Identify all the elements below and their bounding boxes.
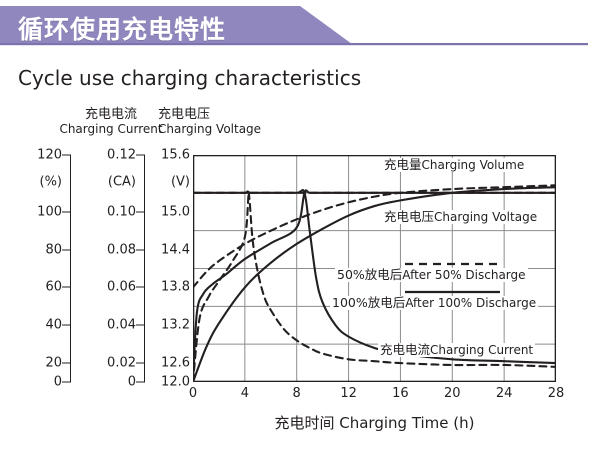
y-tick-voltage-156: 15.6 xyxy=(161,148,190,163)
y-tick-voltage-120: 12.0 xyxy=(161,375,190,390)
y-tick-current-0: 0 xyxy=(128,375,136,390)
y-tick-volume-20: 20 xyxy=(45,356,62,371)
annotation-charging-voltage-cn: 充电电压 xyxy=(384,209,434,224)
annotation-charging-volume-cn: 充电量 xyxy=(384,157,422,172)
page-subtitle: Cycle use charging characteristics xyxy=(18,66,361,90)
annotation-charging-voltage: 充电电压Charging Voltage xyxy=(382,210,539,224)
axis-header-voltage-cn: 充电电压 xyxy=(158,108,288,123)
y-tick-volume-80: 80 xyxy=(45,242,62,257)
y-axis-volume-unit: (%) xyxy=(40,175,63,190)
y-tick-current-008: 0.08 xyxy=(107,242,136,257)
y-tick-volume-120: 120 xyxy=(37,148,62,163)
header-banner: 循环使用充电特性 xyxy=(0,6,600,48)
y-tick-voltage-138: 13.8 xyxy=(161,280,190,295)
annotation-discharge-100-cn: 100%放电后 xyxy=(332,295,405,310)
axis-header-current: 充电电流 Charging Current xyxy=(58,108,164,136)
y-axis-current-unit: (CA) xyxy=(108,175,136,190)
x-axis-caption: 充电时间 Charging Time (h) xyxy=(193,412,556,433)
page-title: 循环使用充电特性 xyxy=(18,10,226,46)
x-tick-8: 8 xyxy=(293,386,301,401)
x-tick-0: 0 xyxy=(189,386,197,401)
y-axis-volume-rail xyxy=(70,155,71,382)
annotation-discharge-50-en: After 50% Discharge xyxy=(402,268,525,282)
x-tick-4: 4 xyxy=(241,386,249,401)
y-tick-current-006: 0.06 xyxy=(107,280,136,295)
annotation-discharge-100: 100%放电后After 100% Discharge xyxy=(330,296,538,310)
x-tick-16: 16 xyxy=(392,386,409,401)
y-tick-volume-100: 100 xyxy=(37,204,62,219)
x-tick-24: 24 xyxy=(496,386,513,401)
annotation-discharge-100-en: After 100% Discharge xyxy=(405,296,536,310)
axis-header-voltage: 充电电压 Charging Voltage xyxy=(158,108,288,136)
y-tick-current-004: 0.04 xyxy=(107,318,136,333)
axis-header-current-cn: 充电电流 xyxy=(58,108,164,123)
annotation-charging-volume: 充电量Charging Volume xyxy=(382,158,526,172)
y-tick-volume-0: 0 xyxy=(54,375,62,390)
y-tick-current-012: 0.12 xyxy=(107,148,136,163)
y-axis-current-rail xyxy=(144,155,145,382)
y-axis-voltage: (V) 15.6 15.0 14.4 13.8 13.2 12.6 12.0 xyxy=(152,155,192,382)
annotation-discharge-50: 50%放电后After 50% Discharge xyxy=(335,268,528,282)
y-tick-voltage-144: 14.4 xyxy=(161,242,190,257)
annotation-charging-current-en: Charging Current xyxy=(430,343,533,357)
annotation-discharge-50-cn: 50%放电后 xyxy=(337,267,402,282)
y-axis-voltage-unit: (V) xyxy=(171,175,190,190)
x-tick-20: 20 xyxy=(444,386,461,401)
y-tick-voltage-126: 12.6 xyxy=(161,356,190,371)
x-tick-12: 12 xyxy=(340,386,357,401)
axis-header-current-en: Charging Current xyxy=(58,123,164,136)
y-tick-voltage-132: 13.2 xyxy=(161,318,190,333)
annotation-charging-current: 充电电流Charging Current xyxy=(378,343,535,357)
annotation-charging-volume-en: Charging Volume xyxy=(422,158,525,172)
y-tick-current-010: 0.10 xyxy=(107,204,136,219)
axis-header-voltage-en: Charging Voltage xyxy=(158,123,288,136)
y-tick-volume-60: 60 xyxy=(45,280,62,295)
annotation-charging-voltage-en: Charging Voltage xyxy=(434,210,537,224)
annotation-charging-current-cn: 充电电流 xyxy=(380,342,430,357)
y-axis-current: (CA) 0.12 0.10 0.08 0.06 0.04 0.02 0 xyxy=(88,155,136,382)
y-tick-voltage-150: 15.0 xyxy=(161,204,190,219)
y-axis-volume: (%) 120 100 80 60 40 20 0 xyxy=(18,155,62,382)
y-tick-volume-40: 40 xyxy=(45,318,62,333)
x-tick-28: 28 xyxy=(548,386,565,401)
y-tick-current-002: 0.02 xyxy=(107,356,136,371)
